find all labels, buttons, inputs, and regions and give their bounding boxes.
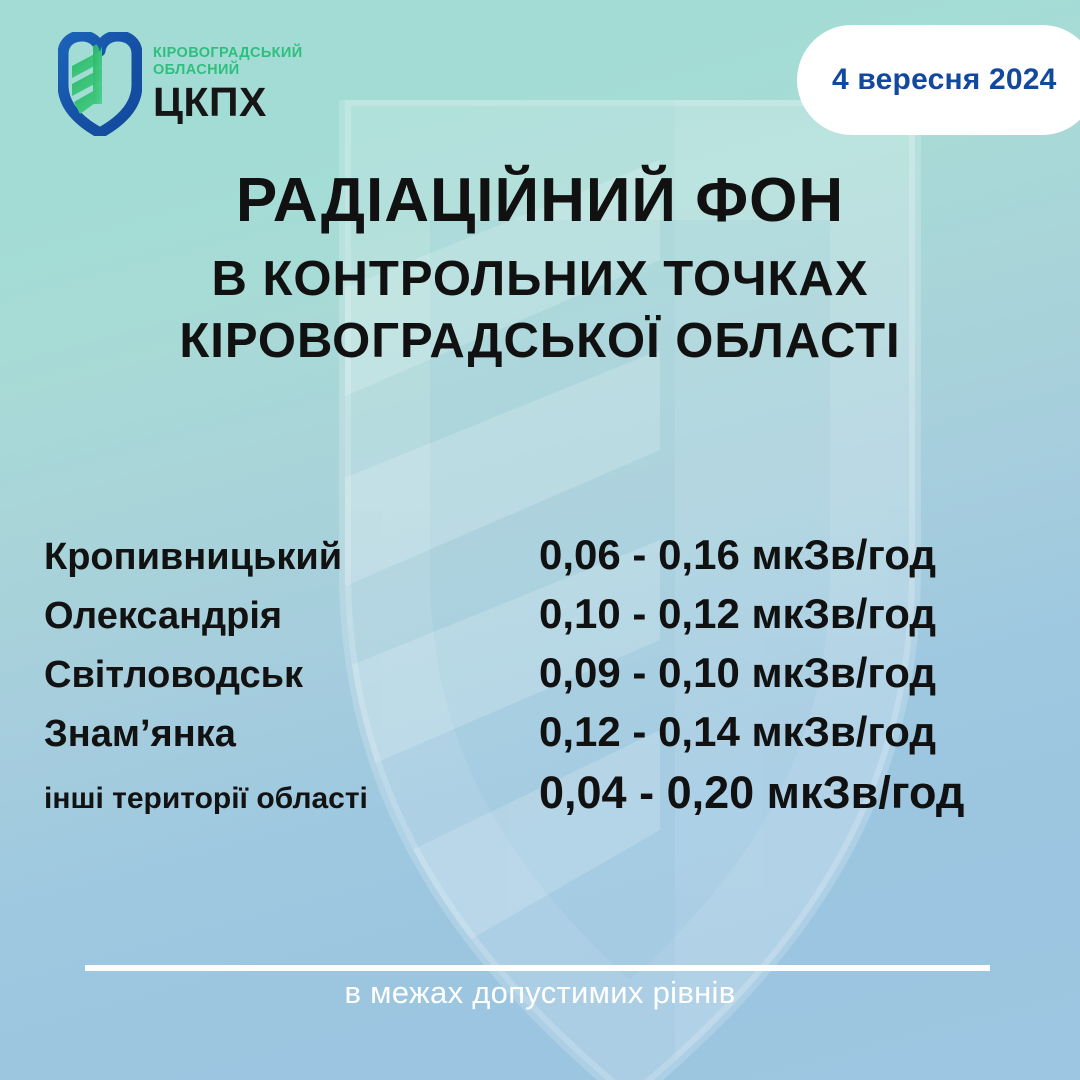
location-label: Кропивницький (44, 536, 539, 579)
table-row: інші території області 0,04 - 0,20 мкЗв/… (44, 767, 1034, 827)
title-line-3: КІРОВОГРАДСЬКОЇ ОБЛАСТІ (0, 313, 1080, 371)
footer-note: в межах допустимих рівнів (0, 975, 1080, 1011)
poster-canvas: КІРОВОГРАДСЬКИЙ ОБЛАСНИЙ ЦКПХ 4 вересня … (0, 0, 1080, 1080)
footer-divider (85, 965, 990, 971)
logo-line-2: ОБЛАСНИЙ (153, 63, 303, 78)
table-row: Світловодськ 0,09 - 0,10 мкЗв/год (44, 649, 1034, 708)
radiation-range-value: 0,06 - 0,16 мкЗв/год (539, 531, 936, 579)
table-row: Кропивницький 0,06 - 0,16 мкЗв/год (44, 531, 1034, 590)
radiation-range-value: 0,10 - 0,12 мкЗв/год (539, 590, 936, 638)
date-badge-label: 4 вересня 2024 (832, 63, 1057, 97)
location-label: Олександрія (44, 595, 539, 638)
page-title: РАДІАЦІЙНИЙ ФОН В КОНТРОЛЬНИХ ТОЧКАХ КІР… (0, 168, 1080, 371)
location-label: інші території області (44, 782, 539, 816)
radiation-range-value: 0,12 - 0,14 мкЗв/год (539, 708, 936, 756)
shield-heart-logo-icon (58, 32, 142, 136)
title-line-1: РАДІАЦІЙНИЙ ФОН (0, 168, 1080, 233)
location-label: Знам’янка (44, 713, 539, 756)
table-row: Знам’янка 0,12 - 0,14 мкЗв/год (44, 708, 1034, 767)
table-row: Олександрія 0,10 - 0,12 мкЗв/год (44, 590, 1034, 649)
title-line-2: В КОНТРОЛЬНИХ ТОЧКАХ (0, 251, 1080, 309)
radiation-range-value: 0,09 - 0,10 мкЗв/год (539, 649, 936, 697)
radiation-range-value: 0,04 - 0,20 мкЗв/год (539, 767, 964, 819)
measurements-table: Кропивницький 0,06 - 0,16 мкЗв/год Олекс… (44, 531, 1034, 827)
date-badge: 4 вересня 2024 (797, 25, 1080, 135)
logo-line-1: КІРОВОГРАДСЬКИЙ (153, 46, 303, 61)
logo-abbreviation: ЦКПХ (153, 82, 303, 123)
location-label: Світловодськ (44, 654, 539, 697)
organization-logo: КІРОВОГРАДСЬКИЙ ОБЛАСНИЙ ЦКПХ (58, 32, 303, 136)
